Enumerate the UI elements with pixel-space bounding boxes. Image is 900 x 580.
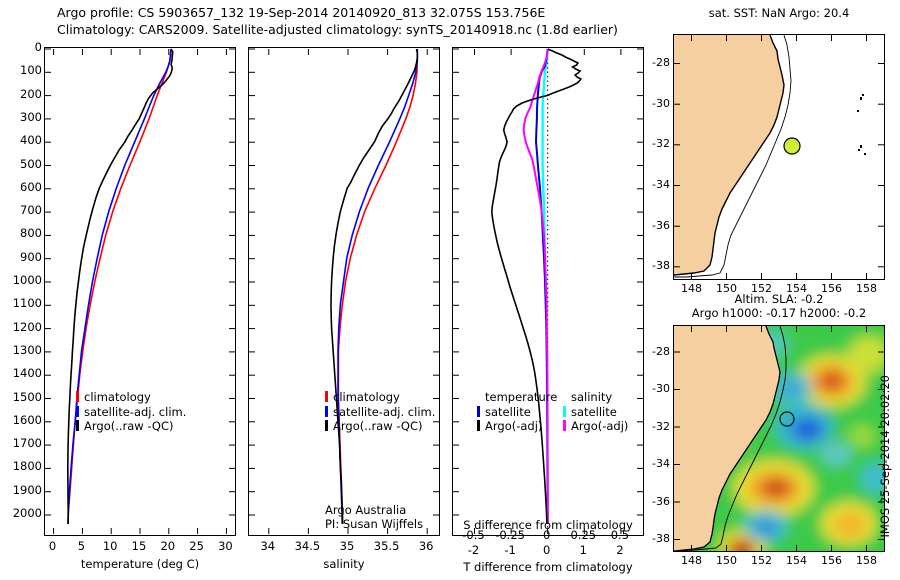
legend-swatch-argo-raw — [325, 420, 328, 431]
map-sst-svg[interactable] — [674, 35, 884, 279]
difference-plot-svg — [453, 48, 643, 535]
map-sst-title: sat. SST: NaN Argo: 20.4 — [709, 6, 850, 20]
legend-item-temperature-satellite: satellite — [477, 404, 557, 419]
legend-item-satellite-adj-clim: satellite-adj. clim. — [325, 404, 435, 419]
legend-item-salinity-argo-adj: Argo(-adj) — [563, 418, 628, 433]
series-climatology-temperature — [68, 49, 171, 524]
map-sla-title-line2: Argo h1000: -0.17 h2000: -0.2 — [692, 306, 866, 320]
legend-item-argo-raw: Argo(..raw -QC) — [325, 418, 435, 433]
legend-swatch-satellite-adj-clim — [76, 406, 79, 417]
credit-line1: Argo Australia — [325, 503, 423, 517]
series-satellite-adj-clim-temperature — [68, 49, 171, 524]
legend-label: Argo(-adj) — [485, 419, 542, 433]
temperature-legend: climatology satellite-adj. clim. Argo(..… — [76, 389, 186, 433]
salinity-legend: climatology satellite-adj. clim. Argo(..… — [325, 389, 435, 433]
legend-item-argo-raw: Argo(..raw -QC) — [76, 418, 186, 433]
legend-label: satellite — [485, 405, 531, 419]
legend-swatch-salinity-argo-adj — [563, 420, 566, 431]
legend-swatch-climatology — [325, 391, 328, 402]
difference-legend-salinity: salinity satellite Argo(-adj) — [563, 389, 628, 433]
temperature-plot-svg — [45, 48, 235, 535]
legend-swatch-argo-raw — [76, 420, 79, 431]
legend-item-temperature-argo-adj: Argo(-adj) — [477, 418, 557, 433]
legend-label: satellite — [571, 405, 617, 419]
legend-label: Argo(..raw -QC) — [84, 419, 174, 433]
salinity-x-axis-label: salinity — [323, 557, 364, 571]
credit-block: Argo Australia PI: Susan Wijffels — [325, 503, 423, 531]
legend-item-salinity-satellite: satellite — [563, 404, 628, 419]
map-sla-svg[interactable] — [674, 326, 884, 551]
series-argo-raw-salinity — [331, 49, 417, 524]
legend-label: climatology — [333, 390, 400, 404]
legend-swatch-climatology — [76, 391, 79, 402]
difference-legend-temperature: temperature satellite Argo(-adj) — [477, 389, 557, 433]
difference-panel — [452, 47, 644, 536]
credit-line2: PI: Susan Wijffels — [325, 517, 423, 531]
map-sla-title-line1: Altim. SLA: -0.2 — [735, 292, 824, 306]
legend-swatch-temperature-satellite — [477, 406, 480, 417]
legend-label: Argo(-adj) — [571, 419, 628, 433]
imos-timestamp: IMOS 25-Sep-2014 20:02:20 — [878, 375, 892, 538]
series-argo-raw-temperature — [68, 49, 173, 524]
legend-swatch-satellite-adj-clim — [325, 406, 328, 417]
figure-title-line1: Argo profile: CS 5903657_132 19-Sep-2014… — [57, 5, 545, 20]
temperature-panel — [44, 47, 236, 536]
legend-swatch-temperature-argo-adj — [477, 420, 480, 431]
map-sla-panel[interactable] — [673, 325, 885, 552]
series-salinity-argo-adj-difference — [524, 49, 548, 524]
legend-item-climatology: climatology — [325, 389, 435, 404]
salinity-plot-svg — [249, 48, 439, 535]
legend-label: satellite-adj. clim. — [84, 405, 186, 419]
legend-label: satellite-adj. clim. — [333, 405, 435, 419]
legend-header-temperature: temperature — [477, 389, 557, 404]
difference-t-axis-label: T difference from climatology — [463, 560, 632, 574]
legend-label: climatology — [84, 390, 151, 404]
temperature-x-axis-label: temperature (deg C) — [81, 557, 199, 571]
series-climatology-salinity — [338, 49, 417, 524]
figure-title-line2: Climatology: CARS2009. Satellite-adjuste… — [57, 22, 618, 37]
legend-item-climatology: climatology — [76, 389, 186, 404]
map-sst-panel[interactable] — [673, 34, 885, 280]
legend-swatch-salinity-satellite — [563, 406, 566, 417]
legend-header-salinity: salinity — [563, 389, 628, 404]
legend-item-satellite-adj-clim: satellite-adj. clim. — [76, 404, 186, 419]
legend-label: Argo(..raw -QC) — [333, 419, 423, 433]
profile-location-marker[interactable] — [784, 138, 800, 154]
salinity-panel — [248, 47, 440, 536]
